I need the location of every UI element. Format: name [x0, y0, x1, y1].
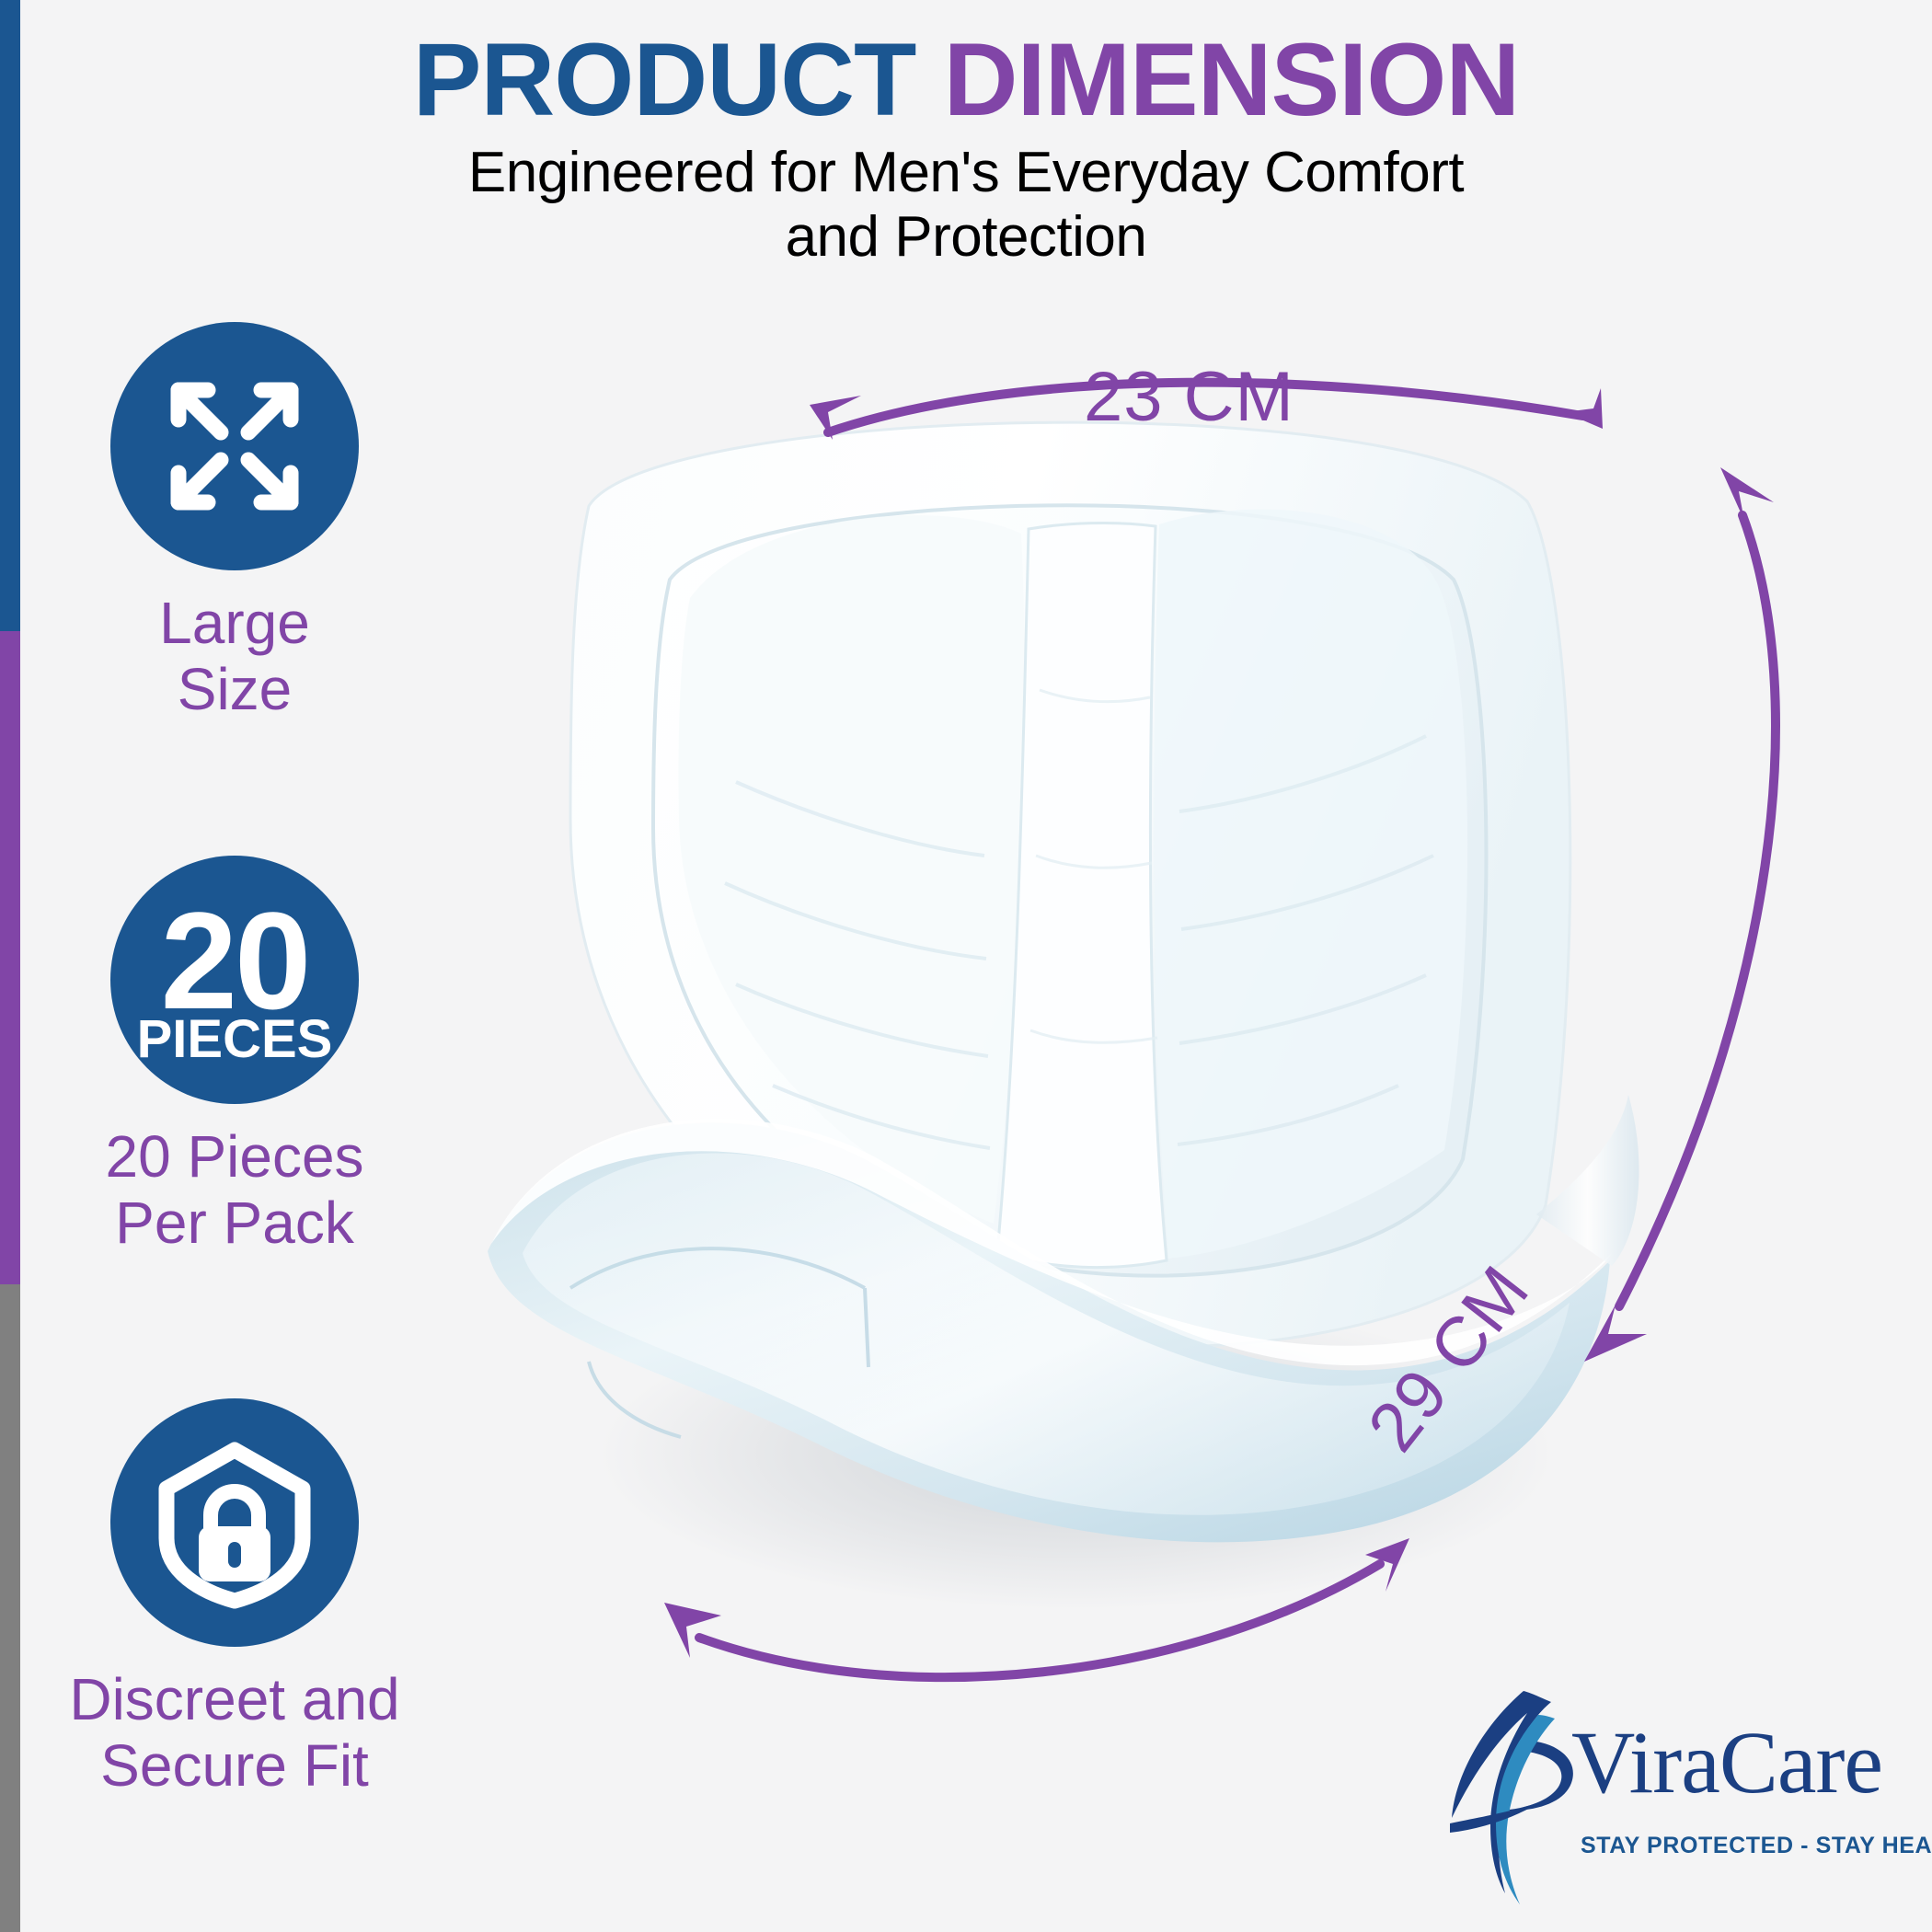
accent-stripe-purple	[0, 631, 20, 1284]
shield-lock-icon	[147, 1435, 322, 1610]
feature-label-large-size: Large Size	[18, 591, 451, 722]
feature-large-size: Large Size	[18, 322, 451, 722]
feature-discreet-secure-fit: Discreet and Secure Fit	[18, 1398, 451, 1799]
pieces-count-number: 20	[137, 900, 333, 1021]
expand-arrows-icon	[156, 368, 313, 524]
header: PRODUCT DIMENSION Engineered for Men's E…	[0, 26, 1932, 270]
page-subtitle: Engineered for Men's Everyday Comfort an…	[0, 141, 1932, 270]
page-title: PRODUCT DIMENSION	[0, 26, 1932, 135]
pieces-count-word: PIECES	[137, 1016, 333, 1063]
incontinence-pad-illustration	[432, 304, 1739, 1656]
page-title-part2: DIMENSION	[944, 22, 1520, 137]
accent-stripe-gray	[0, 1284, 20, 1932]
feature-badge-large-size	[110, 322, 359, 570]
page-subtitle-line1: Engineered for Men's Everyday Comfort	[0, 141, 1932, 206]
page-subtitle-line2: and Protection	[0, 205, 1932, 270]
infographic-canvas: PRODUCT DIMENSION Engineered for Men's E…	[0, 0, 1932, 1932]
feature-label-discreet-secure-fit: Discreet and Secure Fit	[18, 1667, 451, 1799]
feature-badge-pieces-count: 20 PIECES	[110, 856, 359, 1104]
feature-pieces-per-pack: 20 PIECES 20 Pieces Per Pack	[18, 856, 451, 1256]
brand-logo: ViraCare STAY PROTECTED - STAY HEALTHY -…	[1443, 1693, 1903, 1904]
brand-name: ViraCare	[1571, 1719, 1882, 1807]
viracare-swoosh-icon	[1443, 1687, 1581, 1904]
feature-badge-secure-fit	[110, 1398, 359, 1647]
brand-tagline: STAY PROTECTED - STAY HEALTHY - STAY SAF…	[1581, 1833, 1932, 1859]
feature-label-pieces-per-pack: 20 Pieces Per Pack	[18, 1124, 451, 1256]
pieces-count-badge: 20 PIECES	[137, 896, 333, 1063]
page-title-part1: PRODUCT	[413, 22, 916, 137]
